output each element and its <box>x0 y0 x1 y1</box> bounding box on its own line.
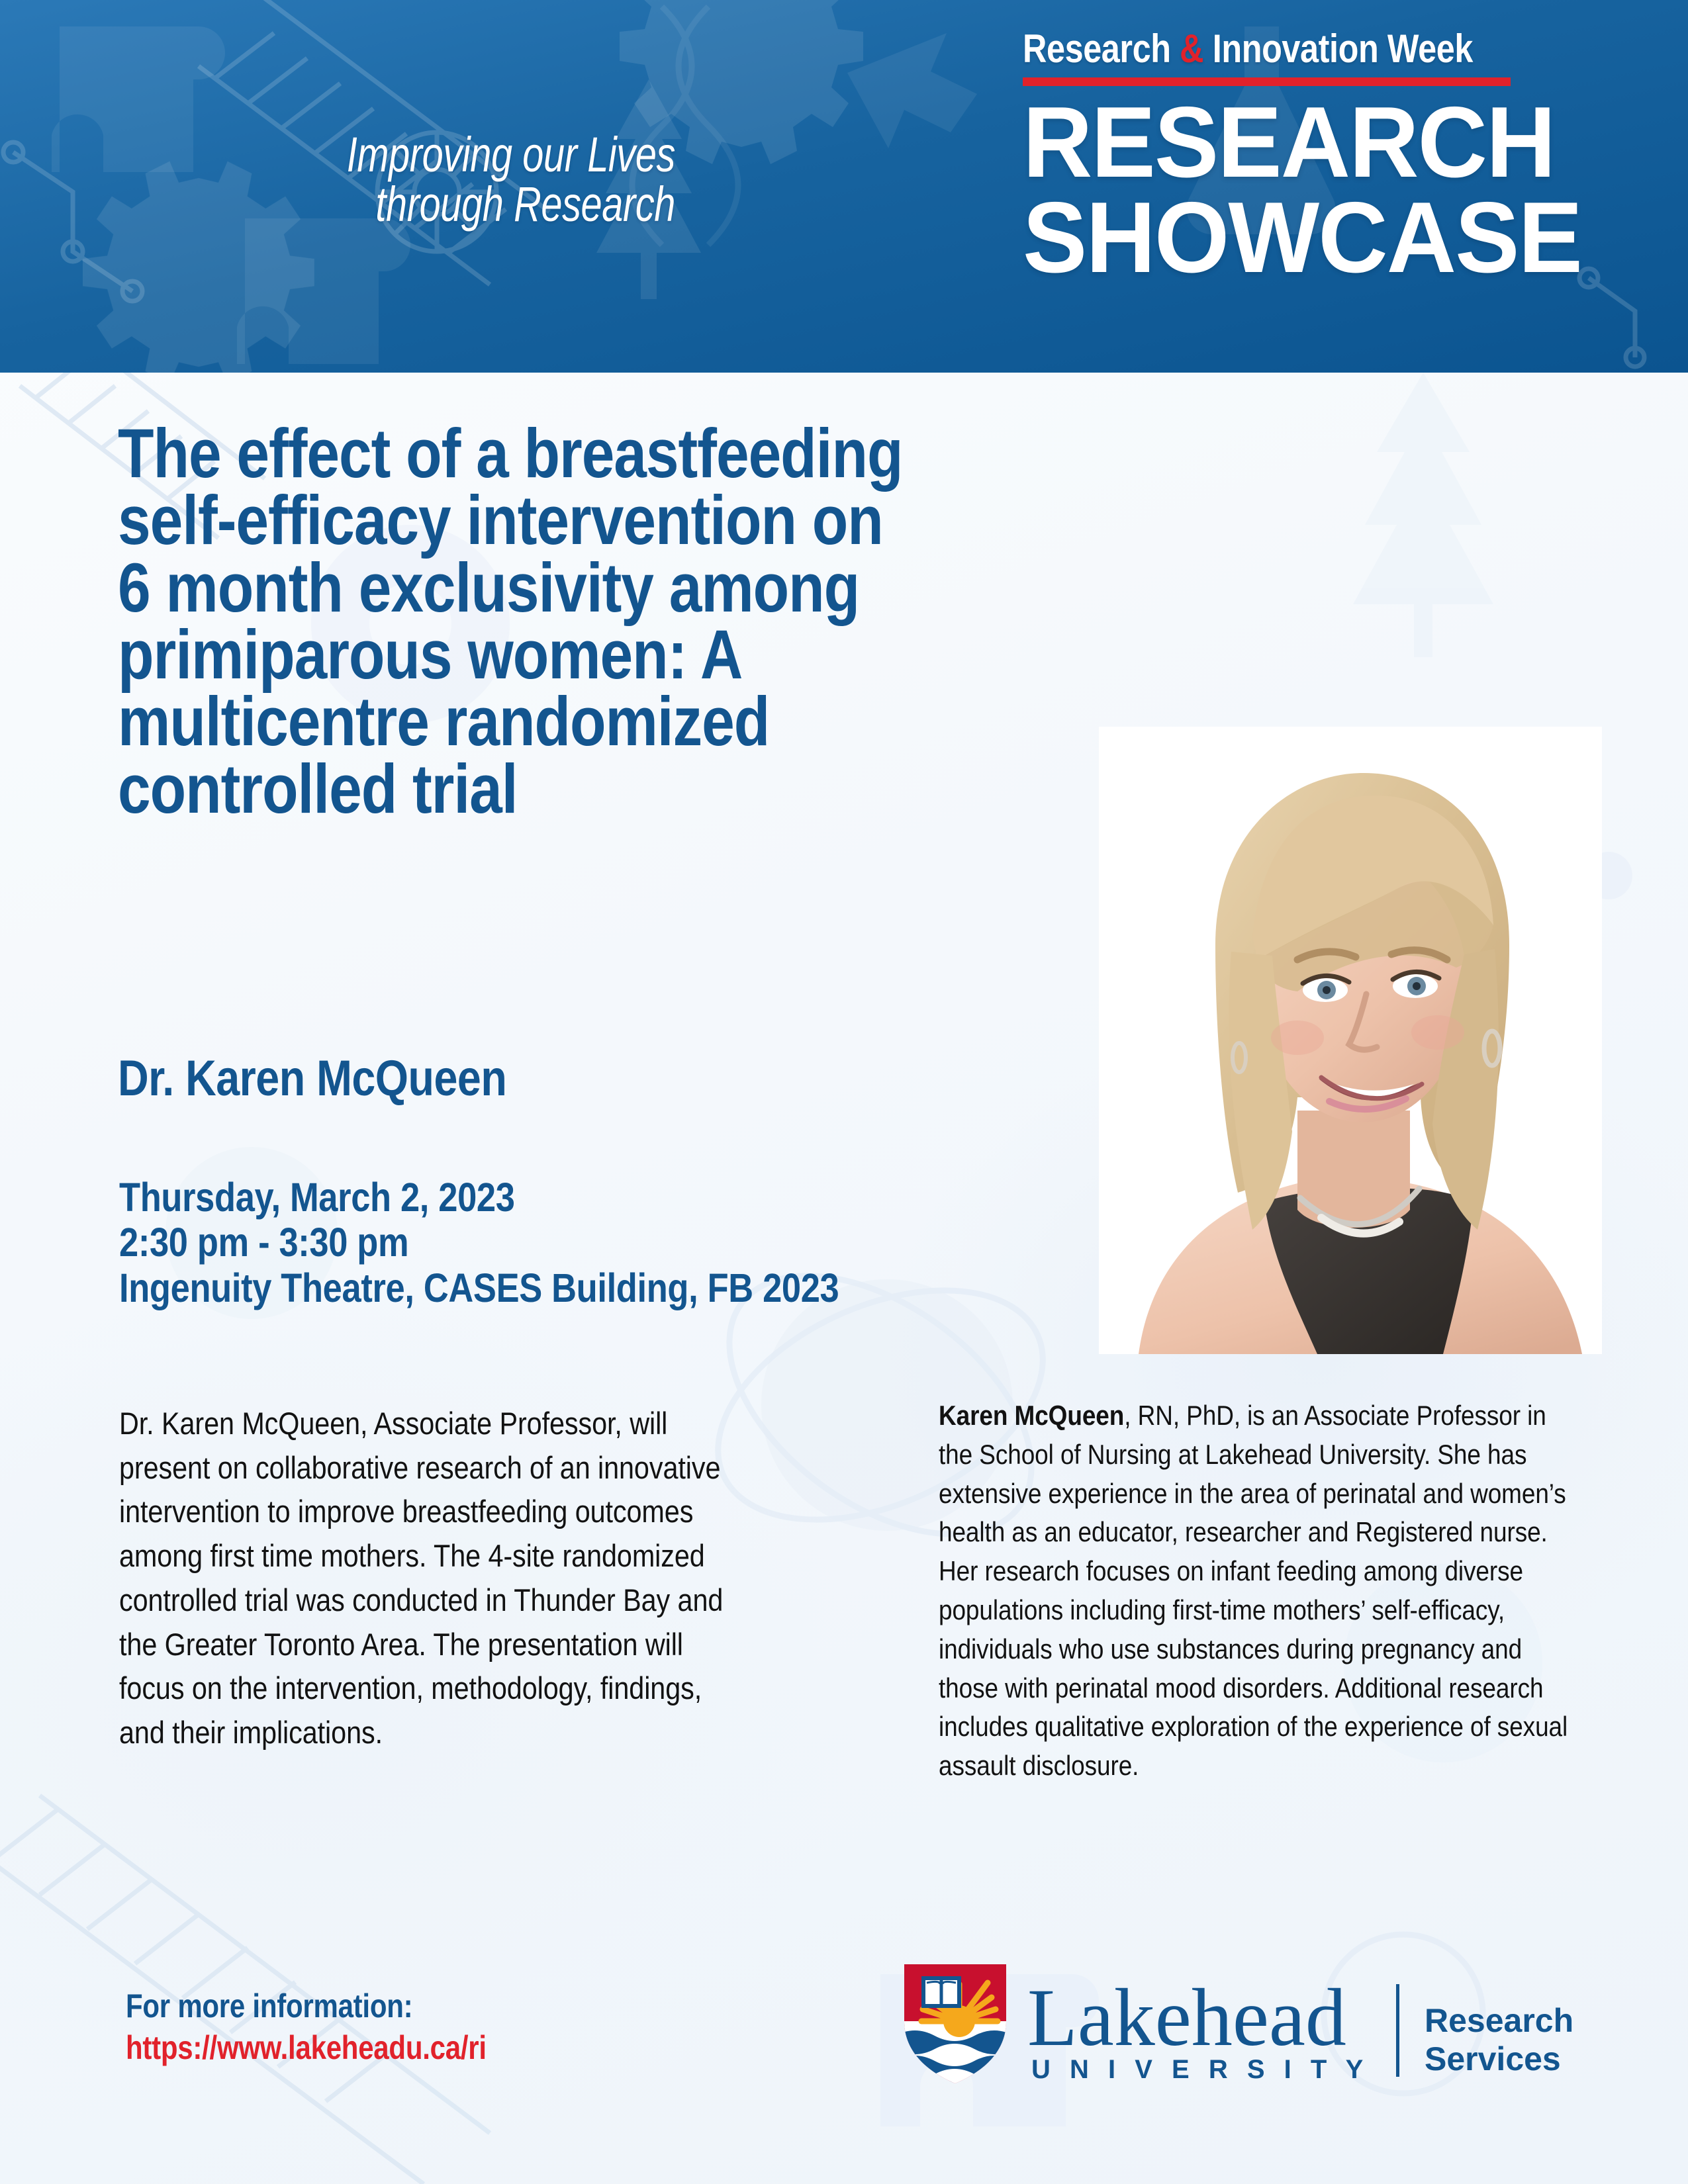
more-information-block: For more information: https://www.lakehe… <box>126 1985 626 2069</box>
ampersand-glyph: & <box>1180 26 1203 71</box>
logo-subword: U N I V E R S I T Y <box>1031 2055 1369 2084</box>
brand-word-research: RESEARCH <box>1023 101 1563 184</box>
shield-icon <box>895 1964 1014 2090</box>
logo-wordmark: Lakehead <box>1027 1972 1346 2063</box>
header-tagline: Improving our Lives through Research <box>303 130 675 230</box>
logo-divider <box>1396 1984 1399 2077</box>
header-banner: Improving our Lives through Research Res… <box>0 0 1688 373</box>
brand-block: Research & Innovation Week RESEARCH SHOW… <box>1023 29 1585 279</box>
research-innovation-week-label: Research & Innovation Week <box>1023 29 1495 69</box>
lakehead-university-logo: Lakehead U N I V E R S I T Y Research Se… <box>895 1958 1610 2090</box>
event-details: Thursday, March 2, 2023 2:30 pm - 3:30 p… <box>119 1175 984 1310</box>
riw-text-pre: Research <box>1023 26 1180 71</box>
presenter-photo <box>1099 727 1602 1354</box>
more-info-label: For more information: <box>126 1985 626 2027</box>
page-title: The effect of a breastfeeding self-effic… <box>118 420 973 823</box>
brand-word-showcase: SHOWCASE <box>1023 196 1563 279</box>
bio-rest: , RN, PhD, is an Associate Professor in … <box>939 1400 1568 1781</box>
red-rule-divider <box>1023 77 1511 86</box>
logo-unit-line2: Services <box>1425 2040 1561 2077</box>
presenter-name: Dr. Karen McQueen <box>118 1054 906 1104</box>
riw-text-post: Innovation Week <box>1203 26 1473 71</box>
bio-paragraph: Karen McQueen, RN, PhD, is an Associate … <box>939 1396 1568 1786</box>
abstract-paragraph: Dr. Karen McQueen, Associate Professor, … <box>119 1402 754 1755</box>
more-info-url[interactable]: https://www.lakeheadu.ca/ri <box>126 2027 626 2069</box>
logo-unit-line1: Research <box>1425 2002 1573 2039</box>
poster-page: Improving our Lives through Research Res… <box>0 0 1688 2184</box>
bio-name: Karen McQueen <box>939 1400 1124 1431</box>
